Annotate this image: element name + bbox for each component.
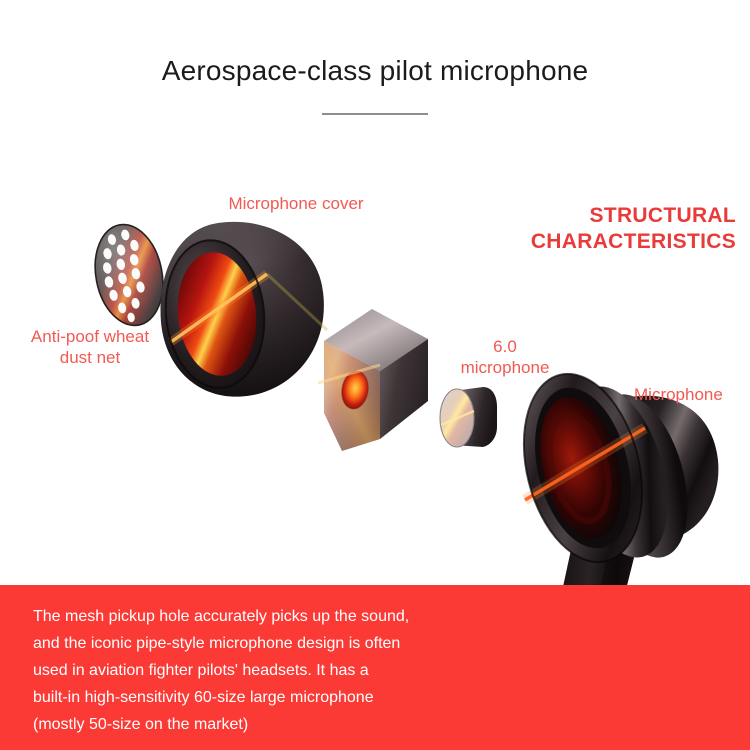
description-text: The mesh pickup hole accurately picks up… <box>33 603 478 738</box>
hex-housing-icon <box>318 305 438 453</box>
section-heading: STRUCTURAL CHARACTERISTICS <box>436 203 736 255</box>
section-heading-line1: STRUCTURAL <box>436 203 736 229</box>
label-microphone-cover: Microphone cover <box>206 193 386 214</box>
page-title: Aerospace-class pilot microphone <box>0 54 750 88</box>
label-anti-poof-wheat-dust-net: Anti-poof wheat dust net <box>2 326 178 368</box>
label-microphone: Microphone <box>634 384 750 405</box>
microphone-cover-icon <box>155 218 330 398</box>
hex-housing-block <box>318 305 438 453</box>
microphone-capsule <box>437 385 501 451</box>
product-infographic: Aerospace-class pilot microphone STRUCTU… <box>0 0 750 750</box>
label-6-0-microphone: 6.0 microphone <box>440 336 570 378</box>
title-divider <box>322 113 428 115</box>
description-banner: The mesh pickup hole accurately picks up… <box>0 585 750 750</box>
microphone-capsule-icon <box>437 385 501 451</box>
microphone-cover-shell <box>155 218 330 398</box>
section-heading-line2: CHARACTERISTICS <box>436 229 736 255</box>
